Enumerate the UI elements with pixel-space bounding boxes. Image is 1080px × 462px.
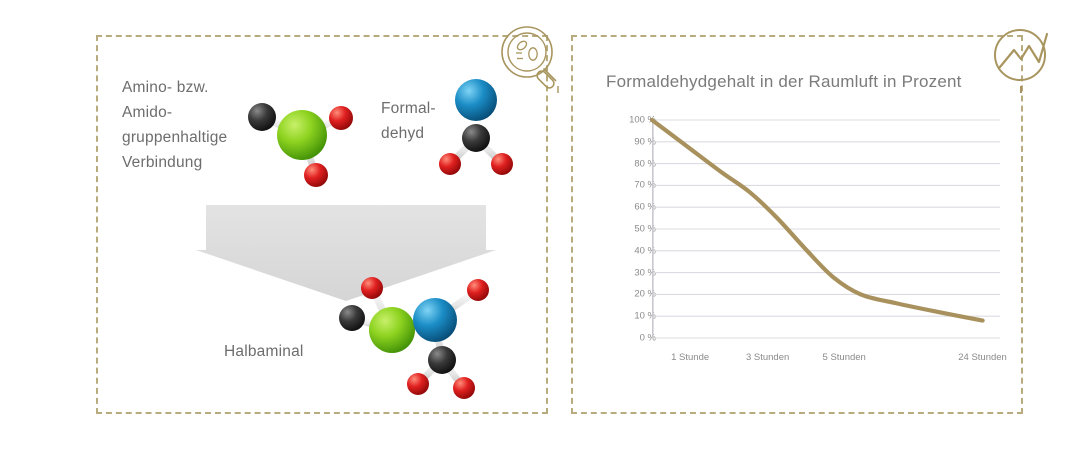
- x-axis-tick: 5 Stunden: [823, 352, 866, 363]
- data-curve: [652, 120, 983, 321]
- x-axis-tick: 3 Stunden: [746, 352, 789, 363]
- plot-area: [652, 120, 1000, 338]
- y-axis-tick: 30 %: [610, 267, 656, 278]
- molecule-amino-compound: [236, 85, 371, 195]
- y-axis-tick: 10 %: [610, 311, 656, 322]
- line-chart: 100 %90 %80 %70 %60 %50 %40 %30 %20 %10 …: [600, 120, 1000, 385]
- trend-chart-icon: [987, 22, 1061, 96]
- y-axis-tick: 50 %: [610, 224, 656, 235]
- x-axis-tick: 1 Stunde: [671, 352, 709, 363]
- y-axis-tick: 80 %: [610, 158, 656, 169]
- chart-title: Formaldehydgehalt in der Raumluft in Pro…: [606, 72, 962, 92]
- molecule-halbaminal: [330, 272, 500, 400]
- magnifier-molecule-icon: [497, 22, 571, 96]
- y-axis-tick: 70 %: [610, 180, 656, 191]
- gridlines: [652, 120, 1000, 338]
- y-axis-tick: 60 %: [610, 202, 656, 213]
- y-axis-tick: 100 %: [610, 115, 656, 126]
- y-axis-tick: 40 %: [610, 245, 656, 256]
- x-axis-tick: 24 Stunden: [958, 352, 1007, 363]
- y-axis-tick: 0 %: [610, 333, 656, 344]
- y-axis-tick: 90 %: [610, 136, 656, 147]
- y-axis-tick: 20 %: [610, 289, 656, 300]
